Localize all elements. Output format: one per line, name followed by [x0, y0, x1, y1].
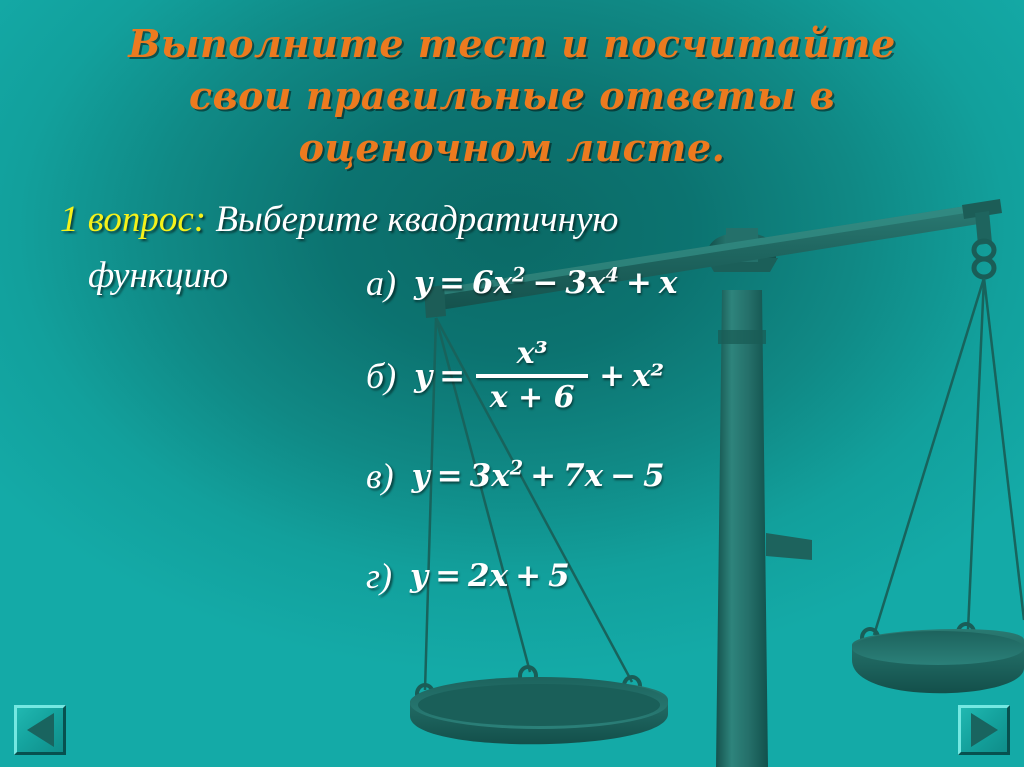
title-line-1: Выполните тест и посчитайте — [0, 18, 1024, 70]
formula-eq-b: = — [439, 358, 465, 394]
fraction-denominator-b: x + 6 — [480, 382, 585, 414]
answer-option-c[interactable]: в) y = 3x2 + 7x − 5 — [366, 455, 665, 497]
term-d-1: 2x — [468, 558, 508, 594]
slide-title: Выполните тест и посчитайте свои правиль… — [0, 18, 1024, 174]
question-text-line-2: функцию — [88, 252, 228, 300]
fraction-numerator-b: x³ — [507, 338, 558, 370]
term-a-1: 6x2 — [472, 265, 525, 301]
question-line: 1 вопрос: Выберите квадратичную — [60, 196, 960, 244]
term-c-3: 5 — [643, 458, 665, 494]
formula-lhs-c: y — [412, 458, 430, 494]
option-formula-b: y = x³ x + 6 + x² — [414, 338, 664, 413]
option-letter-d: г) — [366, 555, 392, 597]
formula-lhs-b: y — [414, 358, 432, 394]
slide-content: Выполните тест и посчитайте свои правиль… — [0, 0, 1024, 767]
term-c-1: 3x2 — [470, 458, 523, 494]
previous-slide-button[interactable] — [14, 705, 66, 755]
fraction-b: x³ x + 6 — [476, 338, 588, 413]
option-letter-c: в) — [366, 455, 394, 497]
formula-eq-a: = — [439, 265, 465, 301]
answer-option-d[interactable]: г) y = 2x + 5 — [366, 555, 570, 597]
triangle-left-icon — [27, 713, 54, 747]
term-d-2: 5 — [548, 558, 570, 594]
answer-option-a[interactable]: а) y = 6x2 − 3x4 + x — [366, 262, 677, 304]
next-slide-button[interactable] — [958, 705, 1010, 755]
term-c-3-op: − — [610, 458, 636, 494]
title-line-2: свои правильные ответы в — [0, 70, 1024, 122]
option-letter-a: а) — [366, 262, 396, 304]
triangle-right-icon — [971, 713, 998, 747]
formula-lhs-a: y — [414, 265, 432, 301]
option-formula-c: y = 3x2 + 7x − 5 — [412, 458, 665, 494]
option-formula-a: y = 6x2 − 3x4 + x — [414, 265, 677, 301]
answer-option-b[interactable]: б) y = x³ x + 6 + x² — [366, 338, 664, 413]
term-a-3-op: + — [626, 265, 652, 301]
term-c-2-op: + — [530, 458, 556, 494]
term-d-2-op: + — [515, 558, 541, 594]
option-formula-d: y = 2x + 5 — [410, 558, 570, 594]
formula-eq-d: = — [435, 558, 461, 594]
term-c-2: 7x — [563, 458, 603, 494]
term-a-2: 3x4 — [565, 265, 618, 301]
term-a-3: x — [659, 265, 677, 301]
formula-eq-c: = — [437, 458, 463, 494]
fraction-bar-b — [476, 374, 588, 378]
title-line-3: оценочном листе. — [0, 122, 1024, 174]
question-number-label: 1 вопрос: — [60, 199, 206, 240]
slide-root: Выполните тест и посчитайте свои правиль… — [0, 0, 1024, 767]
formula-lhs-d: y — [410, 558, 428, 594]
tail-op-b: + — [599, 358, 625, 394]
option-letter-b: б) — [366, 355, 396, 397]
term-a-2-op: − — [532, 265, 558, 301]
question-text: Выберите квадратичную — [206, 199, 618, 240]
tail-term-b: x² — [632, 358, 664, 394]
